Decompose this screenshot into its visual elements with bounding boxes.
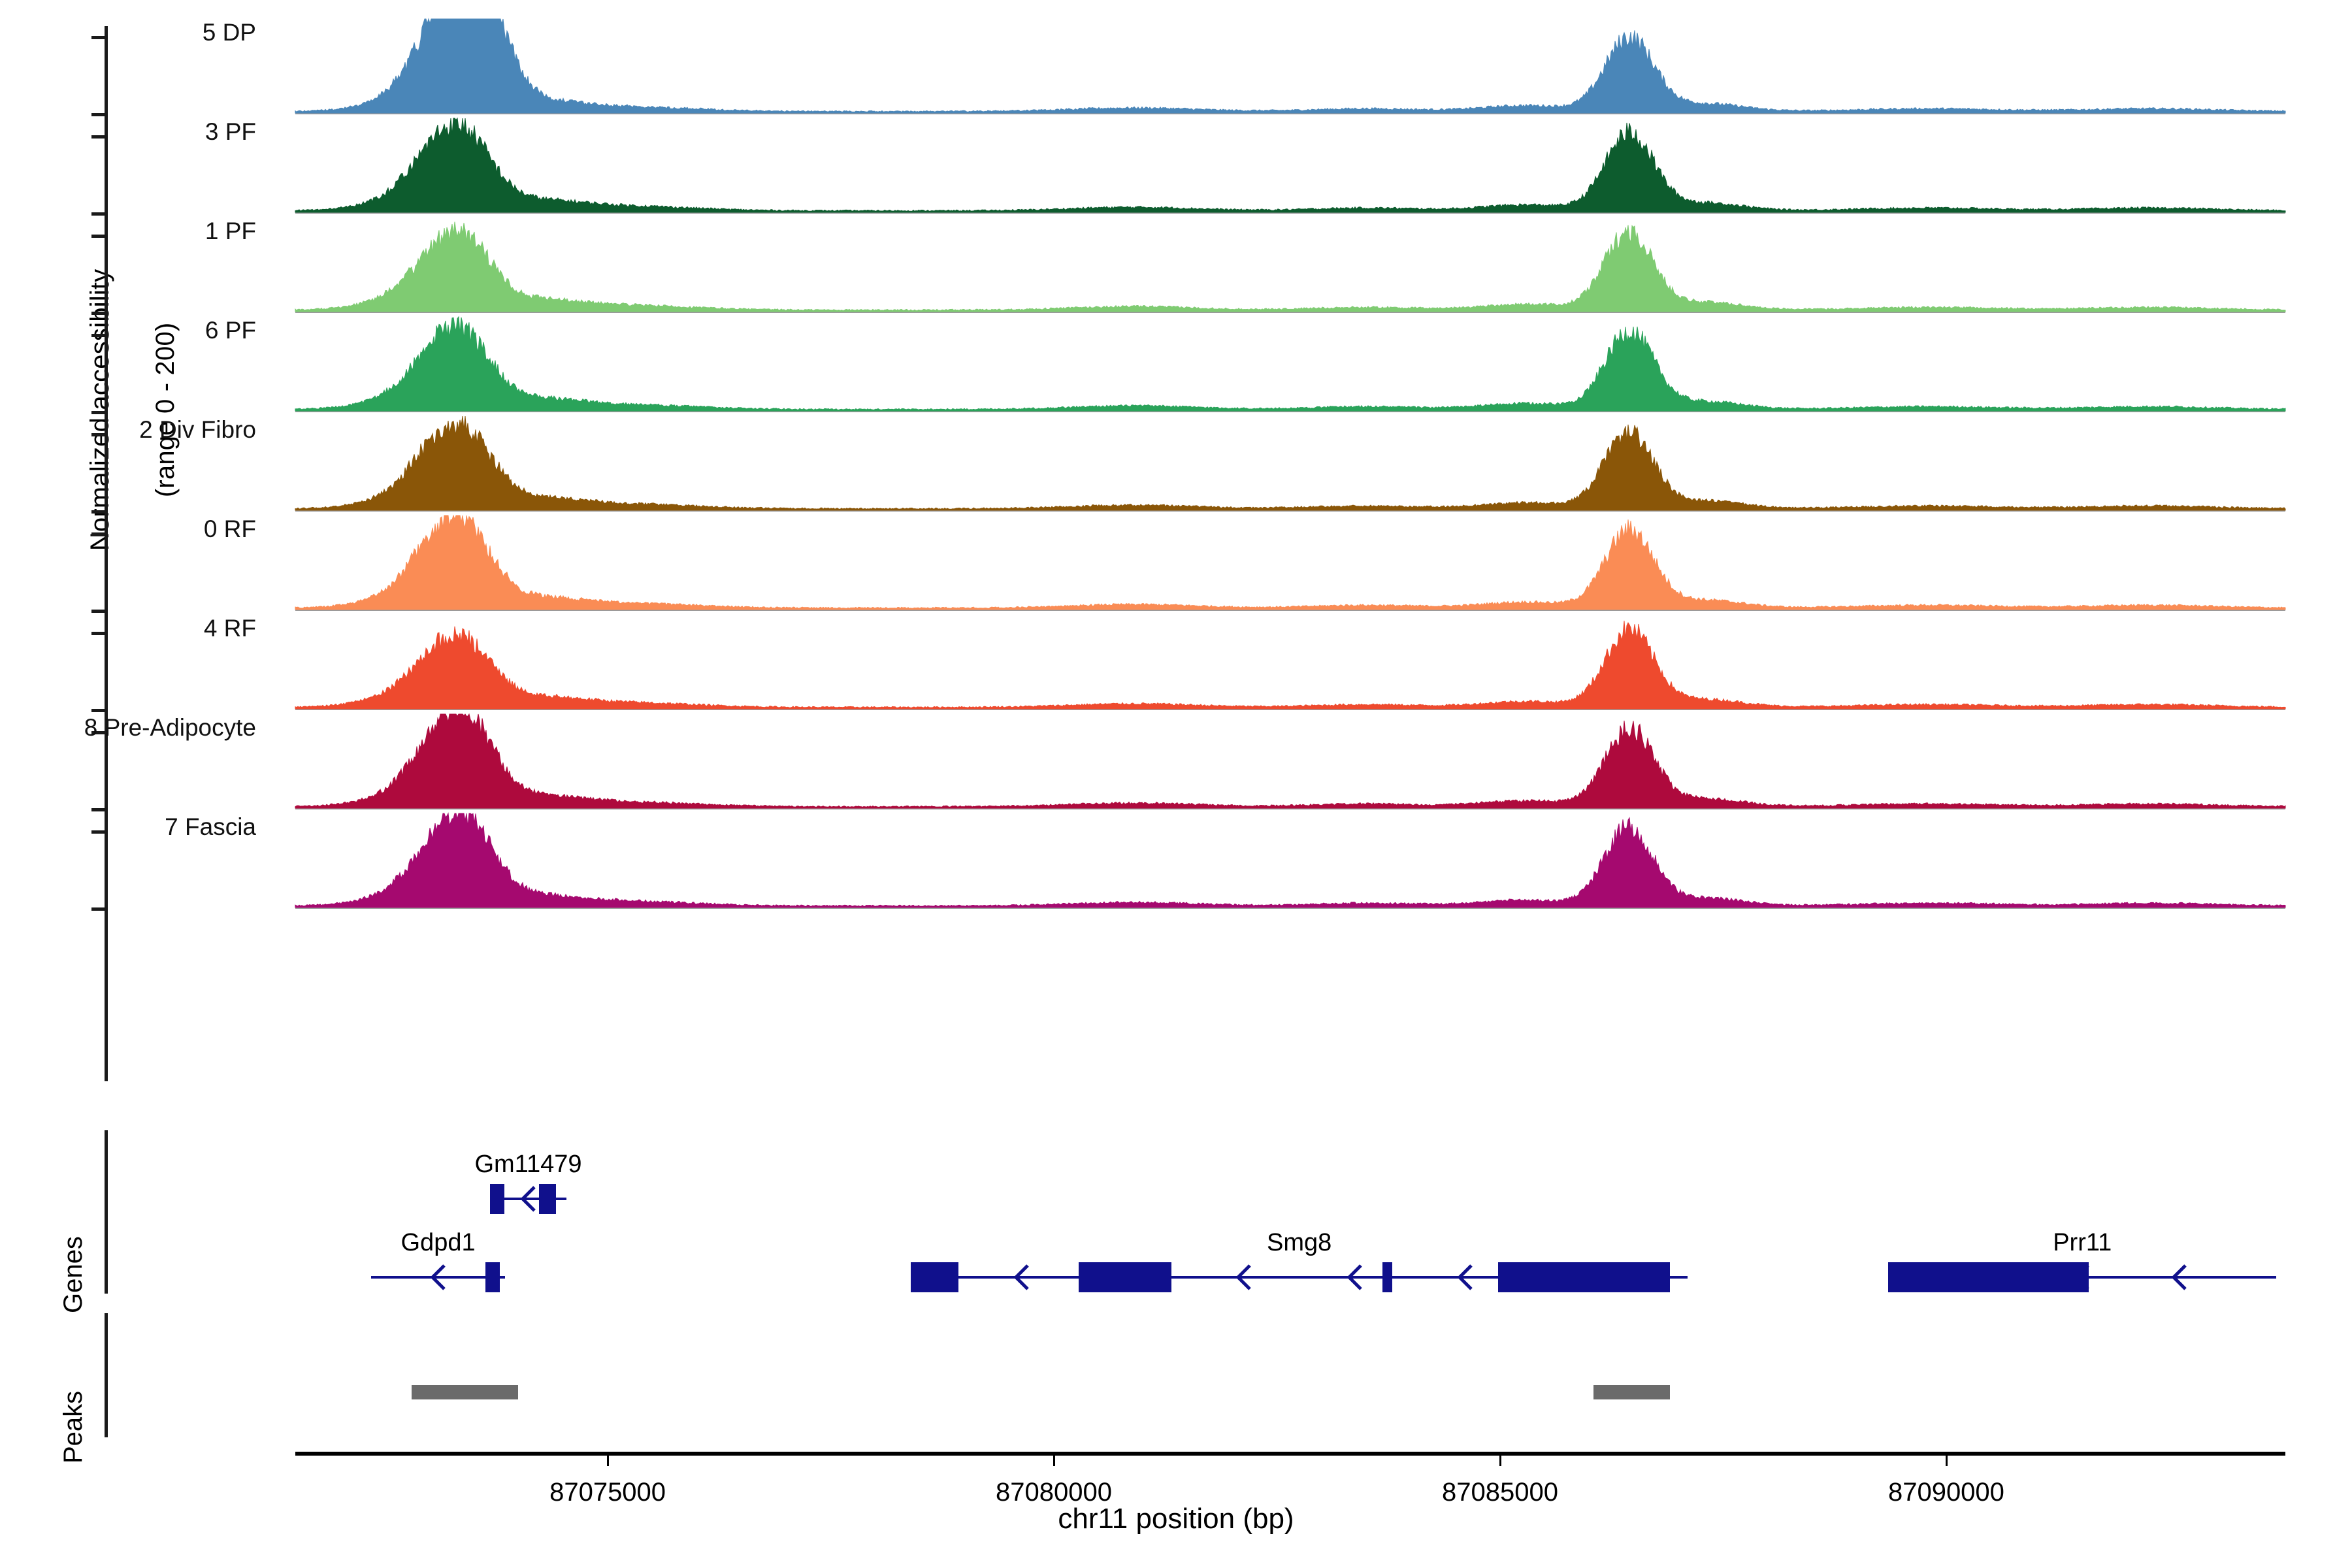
x-axis-title-text: chr11 position (bp) [1058,1503,1294,1535]
genome-browser-figure: Normalized accessibility (range 0 - 200)… [0,0,2352,1568]
x-axis-tick-1 [1053,1456,1055,1466]
x-axis-tick-0 [607,1456,609,1466]
x-axis-line [295,1452,2285,1456]
x-axis-tick-3 [1946,1456,1948,1466]
x-axis-tick-2 [1499,1456,1501,1466]
x-axis-title: chr11 position (bp) [0,1503,2352,1535]
x-axis: 87075000870800008708500087090000 [0,0,2352,1568]
